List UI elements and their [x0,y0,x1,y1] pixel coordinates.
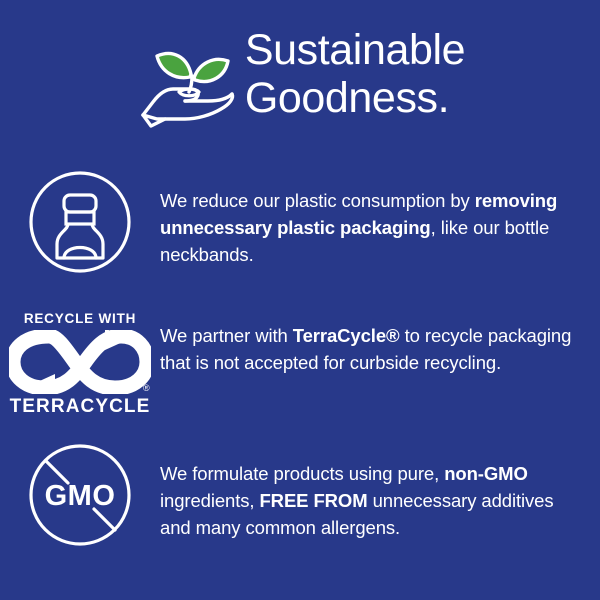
terracycle-top-label: RECYCLE WITH [24,311,136,327]
hand-holding-plant-icon [135,30,239,134]
text-part: We partner with [160,325,293,346]
text-part-bold: non-GMO [444,463,528,484]
bottle-in-circle-icon [0,170,160,274]
header: Sustainable Goodness. [0,24,600,144]
text-part-bold: FREE FROM [259,490,367,511]
feature-text-terracycle: We partner with TerraCycle® to recycle p… [160,305,600,376]
title-line-1: Sustainable [245,26,465,74]
sustainable-goodness-infographic: Sustainable Goodness. We reduce our plas… [0,0,600,600]
infinity-arrows-icon: ® [9,330,151,394]
feature-text-gmo: We formulate products using pure, non-GM… [160,443,600,541]
feature-row-plastic: We reduce our plastic consumption by rem… [0,170,600,290]
feature-row-terracycle: RECYCLE WITH ® TERRACYCLE [0,305,600,425]
feature-text-plastic: We reduce our plastic consumption by rem… [160,170,600,268]
terracycle-logo: RECYCLE WITH ® TERRACYCLE [0,305,160,417]
gmo-label: GMO [45,480,116,512]
feature-row-gmo: GMO We formulate products using pure, no… [0,443,600,568]
text-part-bold: TerraCycle® [293,325,400,346]
svg-text:®: ® [143,383,150,393]
page-title: Sustainable Goodness. [245,24,465,122]
text-part: We formulate products using pure, [160,463,444,484]
title-line-2: Goodness. [245,74,465,122]
no-gmo-icon: GMO [0,443,160,547]
terracycle-bottom-label: TERRACYCLE [10,396,151,417]
text-part: We reduce our plastic consumption by [160,190,475,211]
text-part: ingredients, [160,490,259,511]
